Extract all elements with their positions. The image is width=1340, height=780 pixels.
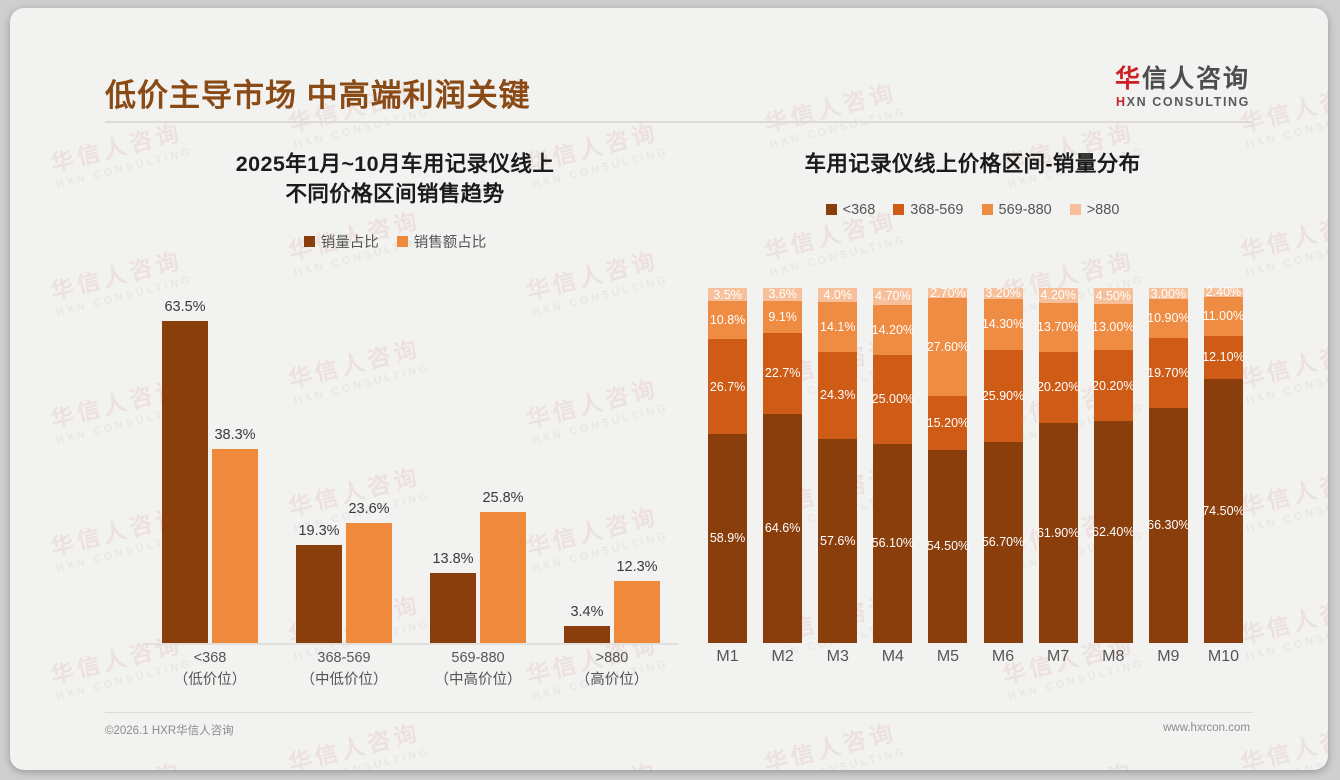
stacked-segment: 3.20% [984,288,1023,299]
stacked-segment: 26.7% [708,339,747,434]
right-chart-stacked-column[interactable]: 56.70%25.90%14.30%3.20% [984,288,1023,643]
stacked-segment: 3.6% [763,288,802,301]
watermark-tile: 华信人咨询HXN CONSULTING [284,712,431,770]
left-chart-bar[interactable]: 19.3% [296,288,342,643]
right-chart-stacked-column[interactable]: 66.30%19.70%10.90%3.00% [1149,288,1188,643]
left-chart-bar[interactable]: 38.3% [212,288,258,643]
right-chart-category-label: M4 [865,648,920,666]
segment-value-label: 62.40% [1092,525,1134,539]
stacked-segment: 61.90% [1039,423,1078,643]
watermark-english: HXN CONSULTING [1245,618,1328,664]
left-chart-bar[interactable]: 25.8% [480,288,526,643]
right-chart-category-label: M8 [1086,648,1141,666]
page-title: 低价主导市场 中高端利润关键 [105,70,531,115]
stacked-segment: 10.8% [708,301,747,339]
right-chart-category-label: M7 [1031,648,1086,666]
bar-rect [162,321,208,643]
bar-value-label: 63.5% [164,299,205,315]
category-sublabel: （中低价位） [277,670,411,692]
right-chart-panel: 车用记录仪线上价格区间-销量分布 <368368-569569-880>880 … [690,136,1255,711]
stacked-segment: 10.90% [1149,299,1188,338]
segment-value-label: 9.1% [768,310,797,324]
stacked-segment: 9.1% [763,301,802,333]
left-chart-legend-item[interactable]: 销售额占比 [397,231,487,252]
bar-value-label: 12.3% [616,559,657,575]
segment-value-label: 15.20% [927,416,969,430]
segment-value-label: 54.50% [927,539,969,553]
stacked-segment: 20.20% [1039,352,1078,424]
logo-chinese: 华信人咨询 [1115,66,1250,92]
segment-value-label: 66.30% [1147,518,1189,532]
watermark-tile: 华信人咨询HXN CONSULTING [46,752,193,770]
legend-swatch-icon [893,204,904,215]
watermark-tile: 华信人咨询HXN CONSULTING [522,752,669,770]
stacked-segment: 4.0% [818,288,857,302]
watermark-chinese: 华信人咨询 [998,752,1142,770]
left-chart-bar[interactable]: 63.5% [162,288,208,643]
watermark-english: HXN CONSULTING [1245,490,1328,536]
segment-value-label: 13.70% [1037,320,1079,334]
stacked-segment: 22.7% [763,333,802,414]
left-chart-panel: 2025年1月~10月车用记录仪线上 不同价格区间销售趋势 销量占比销售额占比 … [105,136,685,711]
stacked-segment: 4.70% [873,288,912,305]
stacked-segment: 27.60% [928,298,967,396]
segment-value-label: 3.00% [1151,287,1186,301]
right-chart-legend-item[interactable]: 569-880 [982,202,1052,218]
left-chart-bar[interactable]: 12.3% [614,288,660,643]
right-chart-category-label: M1 [700,648,755,666]
stacked-segment: 25.90% [984,350,1023,442]
bar-value-label: 19.3% [298,523,339,539]
stacked-segment: 14.20% [873,305,912,355]
segment-value-label: 74.50% [1202,504,1244,518]
bar-rect [564,626,610,643]
legend-label: >880 [1087,202,1120,218]
legend-swatch-icon [304,236,315,247]
bar-rect [296,545,342,643]
category-sublabel: （低价位） [143,670,277,692]
left-chart-bar[interactable]: 3.4% [564,288,610,643]
category-sublabel: （中高价位） [411,670,545,692]
bar-value-label: 23.6% [348,501,389,517]
left-chart-title-line2: 不同价格区间销售趋势 [105,180,685,210]
left-chart-legend-item[interactable]: 销量占比 [304,231,379,252]
stacked-segment: 19.70% [1149,338,1188,408]
segment-value-label: 20.20% [1092,379,1134,393]
stacked-segment: 3.00% [1149,288,1188,299]
watermark-chinese: 华信人咨询 [46,752,190,770]
watermark-tile: 华信人咨询HXN CONSULTING [1236,712,1328,770]
left-chart-category-label: 569-880（中高价位） [411,648,545,692]
bar-value-label: 13.8% [432,551,473,567]
watermark-chinese: 华信人咨询 [284,712,428,770]
segment-value-label: 24.3% [820,388,855,402]
stacked-segment: 62.40% [1094,421,1133,643]
watermark-chinese: 华信人咨询 [1236,712,1328,770]
slide-canvas: 华信人咨询HXN CONSULTING华信人咨询HXN CONSULTING华信… [10,8,1328,770]
right-chart-legend-item[interactable]: >880 [1070,202,1120,218]
stacked-segment: 54.50% [928,450,967,643]
left-chart-category-label: >880（高价位） [545,648,679,692]
right-chart-stacked-column[interactable]: 74.50%12.10%11.00%2.40% [1204,288,1243,643]
stacked-segment: 4.20% [1039,288,1078,303]
right-chart-category-label: M6 [976,648,1031,666]
stacked-segment: 56.10% [873,444,912,643]
left-chart-bar[interactable]: 13.8% [430,288,476,643]
bar-value-label: 3.4% [570,604,603,620]
legend-swatch-icon [982,204,993,215]
right-chart-stacked-column[interactable]: 62.40%20.20%13.00%4.50% [1094,288,1133,643]
right-chart-stacked-column[interactable]: 57.6%24.3%14.1%4.0% [818,288,857,643]
stacked-segment: 12.10% [1204,336,1243,379]
logo-chinese-accent: 华 [1115,65,1142,93]
segment-value-label: 56.70% [982,535,1024,549]
legend-label: 销量占比 [321,231,379,252]
stacked-segment: 20.20% [1094,350,1133,422]
segment-value-label: 4.50% [1096,289,1131,303]
stacked-segment: 15.20% [928,396,967,450]
stacked-segment: 74.50% [1204,379,1243,643]
legend-label: 569-880 [999,202,1052,218]
segment-value-label: 22.7% [765,366,800,380]
category-name: 368-569 [277,648,411,670]
legend-label: <368 [843,202,876,218]
segment-value-label: 14.30% [982,317,1024,331]
stacked-segment: 14.1% [818,302,857,352]
segment-value-label: 2.70% [930,286,965,300]
segment-value-label: 10.8% [710,313,745,327]
stacked-segment: 2.40% [1204,288,1243,297]
watermark-english: HXN CONSULTING [293,746,432,770]
segment-value-label: 26.7% [710,380,745,394]
right-chart-category-label: M2 [755,648,810,666]
right-chart-title: 车用记录仪线上价格区间-销量分布 [690,136,1255,180]
stacked-segment: 56.70% [984,442,1023,643]
right-chart-category-label: M9 [1141,648,1196,666]
segment-value-label: 4.70% [875,289,910,303]
legend-swatch-icon [397,236,408,247]
right-chart-category-label: M10 [1196,648,1251,666]
segment-value-label: 61.90% [1037,526,1079,540]
watermark-chinese: 华信人咨询 [522,752,666,770]
left-chart-plot: 63.5%38.3%19.3%23.6%13.8%25.8%3.4%12.3% [105,288,685,643]
legend-swatch-icon [826,204,837,215]
segment-value-label: 14.20% [872,323,914,337]
footer-website: www.hxrcon.com [1163,722,1250,734]
left-chart-bar[interactable]: 23.6% [346,288,392,643]
slide-header: 低价主导市场 中高端利润关键 华信人咨询 HXN CONSULTING [10,8,1328,128]
segment-value-label: 19.70% [1147,366,1189,380]
stacked-segment: 13.00% [1094,304,1133,350]
right-chart-legend-item[interactable]: <368 [826,202,876,218]
logo-english-rest: XN CONSULTING [1127,95,1250,109]
footer-divider [105,712,1253,713]
right-chart-category-labels: M1M2M3M4M5M6M7M8M9M10 [690,648,1255,678]
segment-value-label: 20.20% [1037,380,1079,394]
watermark-english: HXN CONSULTING [1245,746,1328,770]
right-chart-category-label: M5 [920,648,975,666]
segment-value-label: 14.1% [820,320,855,334]
segment-value-label: 4.20% [1040,288,1075,302]
segment-value-label: 57.6% [820,534,855,548]
legend-label: 368-569 [910,202,963,218]
legend-label: 销售额占比 [414,231,487,252]
right-chart-stacked-column[interactable]: 58.9%26.7%10.8%3.5% [708,288,747,643]
stacked-segment: 66.30% [1149,408,1188,643]
watermark-english: HXN CONSULTING [1245,234,1328,280]
company-logo: 华信人咨询 HXN CONSULTING [1115,66,1250,109]
watermark-chinese: 华信人咨询 [760,712,904,770]
segment-value-label: 25.90% [982,389,1024,403]
segment-value-label: 64.6% [765,521,800,535]
stacked-segment: 3.5% [708,288,747,300]
segment-value-label: 3.5% [713,288,742,302]
stacked-segment: 24.3% [818,352,857,438]
watermark-english: HXN CONSULTING [769,746,908,770]
right-chart-stacked-column[interactable]: 64.6%22.7%9.1%3.6% [763,288,802,643]
bar-rect [480,512,526,643]
title-divider [105,121,1253,123]
segment-value-label: 10.90% [1147,311,1189,325]
stacked-segment: 4.50% [1094,288,1133,304]
watermark-tile: 华信人咨询HXN CONSULTING [998,752,1145,770]
category-name: 569-880 [411,648,545,670]
right-chart-plot: 58.9%26.7%10.8%3.5%64.6%22.7%9.1%3.6%57.… [690,288,1255,643]
right-chart-category-label: M3 [810,648,865,666]
bar-rect [614,581,660,643]
watermark-tile: 华信人咨询HXN CONSULTING [760,712,907,770]
logo-chinese-rest: 信人咨询 [1142,65,1250,93]
bar-value-label: 25.8% [482,490,523,506]
left-chart-legend: 销量占比销售额占比 [105,231,685,252]
right-chart-stacked-column[interactable]: 54.50%15.20%27.60%2.70% [928,288,967,643]
stacked-segment: 2.70% [928,288,967,298]
right-chart-stacked-column[interactable]: 61.90%20.20%13.70%4.20% [1039,288,1078,643]
stacked-segment: 14.30% [984,299,1023,350]
legend-swatch-icon [1070,204,1081,215]
right-chart-legend: <368368-569569-880>880 [690,202,1255,218]
bar-rect [212,449,258,643]
bar-value-label: 38.3% [214,427,255,443]
left-chart-title-line1: 2025年1月~10月车用记录仪线上 [105,150,685,180]
segment-value-label: 3.20% [985,286,1020,300]
stacked-segment: 57.6% [818,439,857,643]
segment-value-label: 13.00% [1092,320,1134,334]
stacked-segment: 58.9% [708,434,747,643]
segment-value-label: 27.60% [927,340,969,354]
left-chart-title: 2025年1月~10月车用记录仪线上 不同价格区间销售趋势 [105,136,685,209]
left-chart-category-label: 368-569（中低价位） [277,648,411,692]
left-chart-axis-line [143,643,679,645]
segment-value-label: 56.10% [872,536,914,550]
bar-rect [346,523,392,643]
stacked-segment: 64.6% [763,414,802,643]
stacked-segment: 13.70% [1039,303,1078,352]
category-name: >880 [545,648,679,670]
footer-copyright: ©2026.1 HXR华信人咨询 [105,722,234,738]
left-chart-category-label: <368（低价位） [143,648,277,692]
bar-rect [430,573,476,643]
segment-value-label: 25.00% [872,392,914,406]
watermark-english: HXN CONSULTING [1245,362,1328,408]
stacked-segment: 11.00% [1204,297,1243,336]
right-chart-stacked-column[interactable]: 56.10%25.00%14.20%4.70% [873,288,912,643]
segment-value-label: 3.6% [768,287,797,301]
category-name: <368 [143,648,277,670]
segment-value-label: 12.10% [1202,350,1244,364]
segment-value-label: 11.00% [1203,309,1244,323]
category-sublabel: （高价位） [545,670,679,692]
segment-value-label: 58.9% [710,531,745,545]
right-chart-legend-item[interactable]: 368-569 [893,202,963,218]
logo-english: HXN CONSULTING [1115,95,1250,109]
left-chart-category-labels: <368（低价位）368-569（中低价位）569-880（中高价位）>880（… [105,648,685,708]
segment-value-label: 2.40% [1206,285,1241,299]
segment-value-label: 4.0% [824,288,853,302]
logo-english-accent: H [1116,95,1127,109]
stacked-segment: 25.00% [873,355,912,444]
